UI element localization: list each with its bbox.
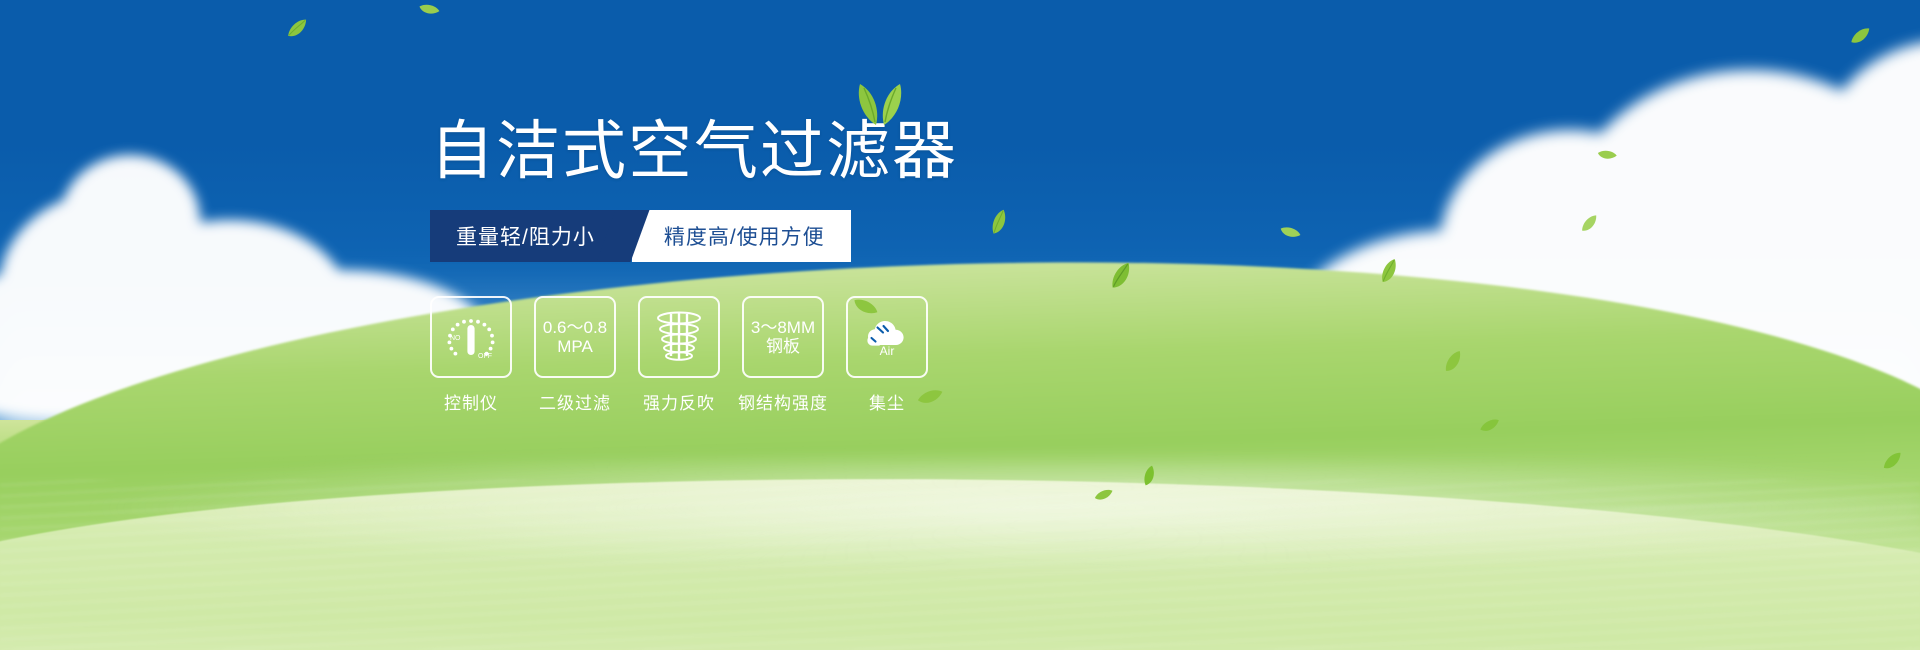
- banner-content: 自洁式空气过滤器 重量轻/阻力小 精度高/使用方便: [430, 120, 1130, 434]
- feature-item-control: NO OFF 控制仪: [430, 296, 512, 434]
- tagline-left: 重量轻/阻力小: [430, 210, 623, 262]
- control-dial-icon: NO OFF: [441, 307, 501, 367]
- grass-streaks: [0, 480, 1920, 650]
- pressure-unit-text: MPA: [557, 337, 593, 356]
- feature-box: NO OFF: [430, 296, 512, 378]
- svg-text:NO: NO: [450, 335, 461, 342]
- tagline-right: 精度高/使用方便: [632, 210, 851, 262]
- title-wrap: 自洁式空气过滤器: [430, 120, 958, 184]
- feature-label: 集尘: [869, 389, 905, 414]
- svg-text:OFF: OFF: [478, 353, 492, 360]
- steel-plate-material-text: 钢板: [766, 337, 800, 356]
- feature-label: 二级过滤: [539, 389, 611, 414]
- steel-plate-text-icon: 3～8MM: [751, 318, 815, 337]
- feature-item-blowback: 强力反吹: [638, 296, 720, 434]
- sprout-leaves-icon: [850, 82, 912, 131]
- air-label: Air: [880, 344, 895, 357]
- feature-label: 强力反吹: [643, 389, 715, 414]
- feature-label: 钢结构强度: [738, 389, 828, 414]
- pressure-text-icon: 0.6～0.8: [543, 318, 607, 337]
- tagline-bar: 重量轻/阻力小 精度高/使用方便: [430, 210, 851, 262]
- air-cloud-icon: Air: [858, 315, 916, 357]
- feature-item-dust: Air 集尘: [846, 296, 928, 434]
- product-banner: 自洁式空气过滤器 重量轻/阻力小 精度高/使用方便: [0, 0, 1920, 650]
- feature-box: [638, 296, 720, 378]
- feature-item-pressure: 0.6～0.8 MPA 二级过滤: [534, 296, 616, 434]
- feature-item-steel: 3～8MM 钢板 钢结构强度: [742, 296, 824, 434]
- feature-list: NO OFF 控制仪 0.6～0.8 MPA 二级过滤: [430, 296, 1130, 434]
- feature-box: 3～8MM 钢板: [742, 296, 824, 378]
- feature-box: Air: [846, 296, 928, 378]
- leaf-icon: [914, 387, 948, 413]
- feature-label: 控制仪: [444, 389, 498, 414]
- feature-box: 0.6～0.8 MPA: [534, 296, 616, 378]
- filter-coil-icon: [651, 308, 707, 366]
